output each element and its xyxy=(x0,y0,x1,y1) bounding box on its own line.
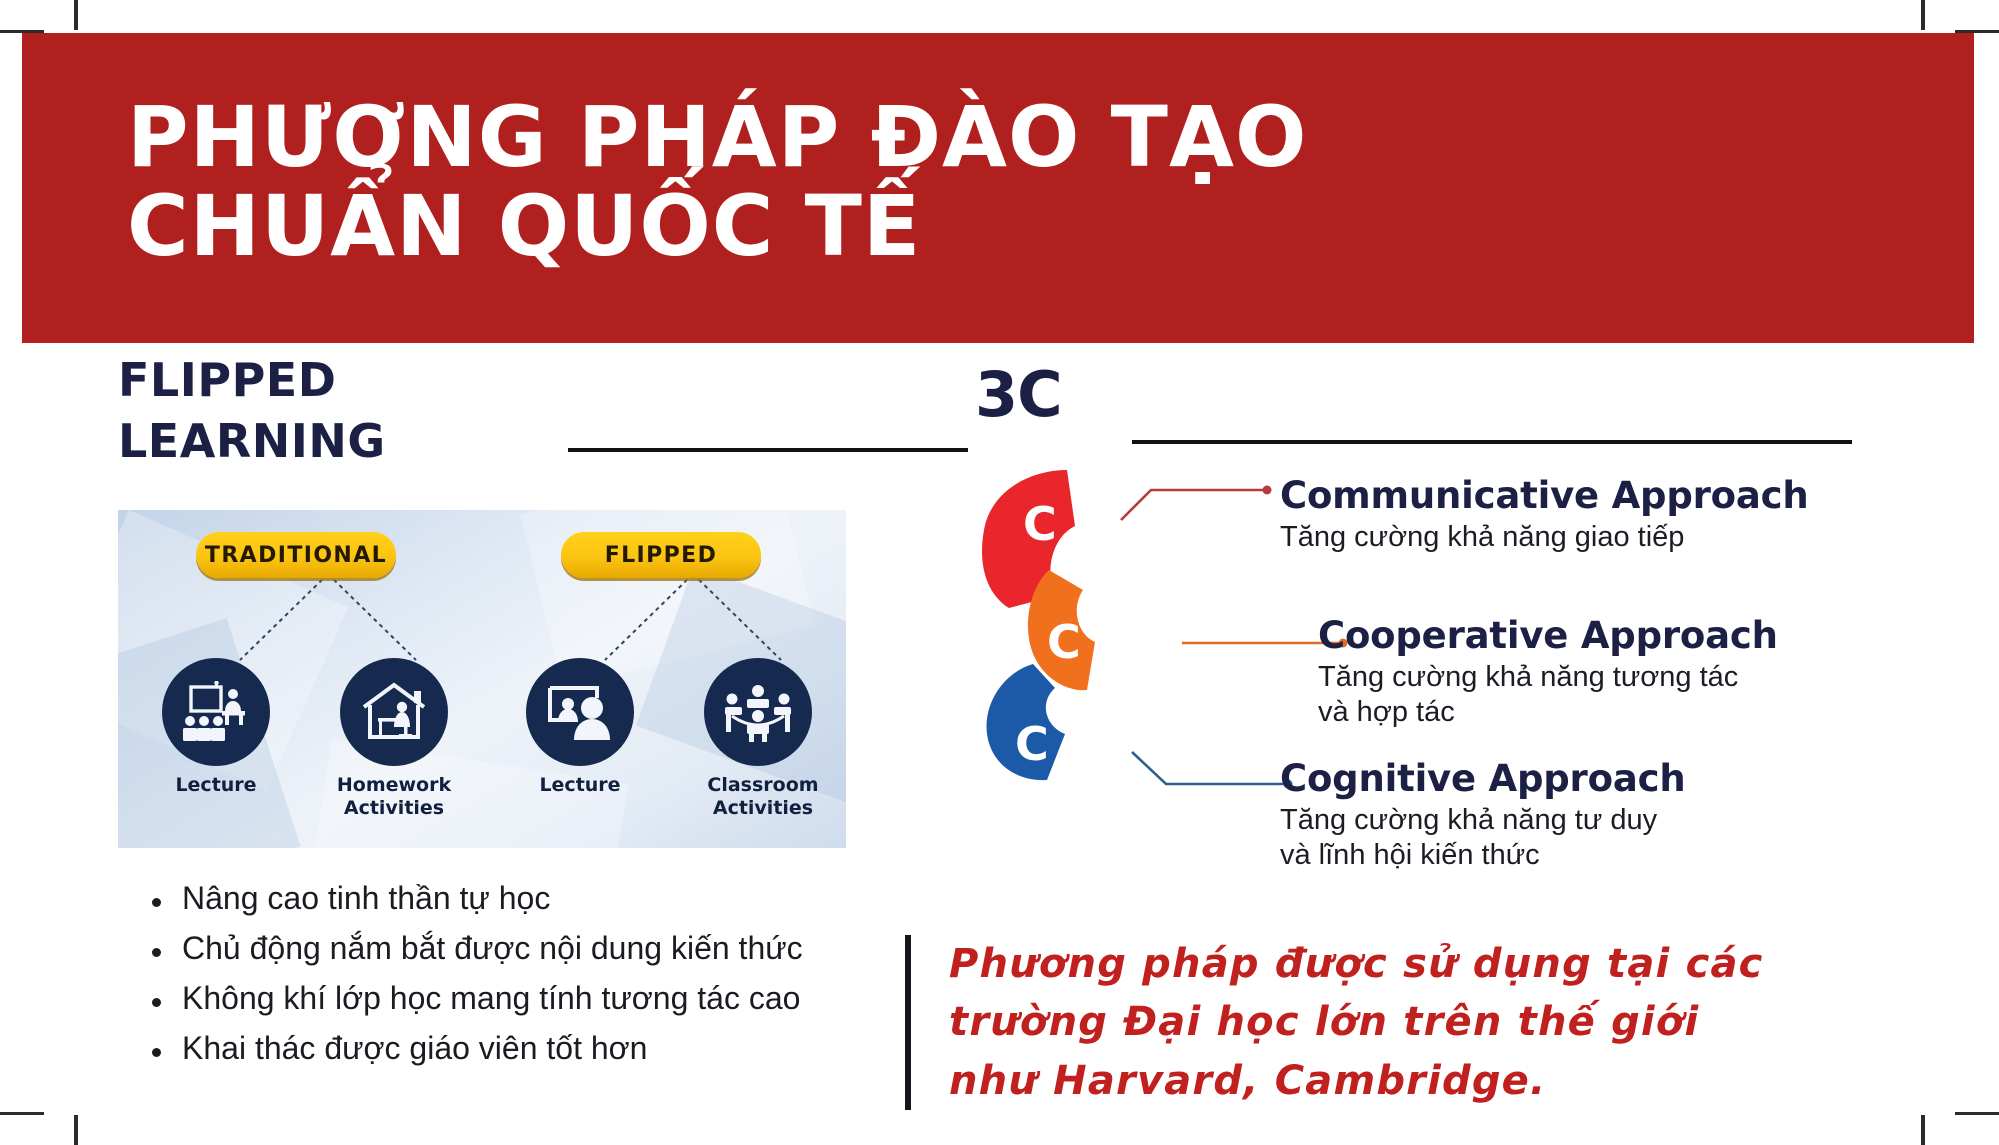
badge-traditional: TRADITIONAL xyxy=(196,532,396,578)
flipped-learning-heading: FLIPPED LEARNING xyxy=(118,350,878,471)
flipped-learning-heading-line1: FLIPPED xyxy=(118,353,336,407)
approach-cognitive: Cognitive Approach Tăng cường khả năng t… xyxy=(1280,758,1920,873)
node-caption-homework: Homework Activities xyxy=(324,774,464,820)
approach-communicative: Communicative Approach Tăng cường khả nă… xyxy=(1280,475,1920,555)
node-caption-lecture-flipped: Lecture xyxy=(510,774,650,797)
node-caption-classroom-activities: Classroom Activities xyxy=(688,774,838,820)
list-item: Chủ động nắm bắt được nội dung kiến thức xyxy=(140,924,860,974)
flipped-learning-diagram: TRADITIONAL FLIPPED xyxy=(118,510,846,848)
c-letter-orange: C xyxy=(1047,615,1081,669)
node-caption-lecture-traditional: Lecture xyxy=(146,774,286,797)
badge-flipped: FLIPPED xyxy=(561,532,761,578)
crop-mark-top-left-v xyxy=(74,0,78,30)
flipped-learning-benefits-list: Nâng cao tinh thần tự học Chủ động nắm b… xyxy=(140,874,860,1074)
badge-flipped-label: FLIPPED xyxy=(605,543,718,568)
highlight-quote: Phương pháp được sử dụng tại các trường … xyxy=(905,935,1959,1110)
title-banner: PHƯƠNG PHÁP ĐÀO TẠO CHUẨN QUỐC TẾ xyxy=(22,33,1974,343)
three-c-heading: 3C xyxy=(975,358,1062,431)
approach-cooperative-title: Cooperative Approach xyxy=(1318,615,1958,656)
approach-cooperative-subtitle: Tăng cường khả năng tương tác và hợp tác xyxy=(1318,660,1958,730)
crop-mark-top-right-v xyxy=(1921,0,1925,30)
home-study-icon xyxy=(360,681,428,743)
node-circle-classroom-activities xyxy=(704,658,812,766)
node-circle-lecture-traditional xyxy=(162,658,270,766)
approach-cognitive-title: Cognitive Approach xyxy=(1280,758,1920,799)
badge-traditional-label: TRADITIONAL xyxy=(205,543,387,568)
page-body: FLIPPED LEARNING T xyxy=(0,350,1999,1145)
c-letter-blue: C xyxy=(1015,717,1049,771)
classroom-lecture-icon xyxy=(181,681,251,743)
approach-communicative-subtitle: Tăng cường khả năng giao tiếp xyxy=(1280,520,1920,555)
flipped-learning-rule xyxy=(568,448,968,452)
list-item: Khai thác được giáo viên tốt hơn xyxy=(140,1024,860,1074)
flipped-learning-section: FLIPPED LEARNING T xyxy=(118,350,878,471)
c-letter-red: C xyxy=(1023,497,1057,551)
group-discussion-icon xyxy=(722,682,794,742)
page-title: PHƯƠNG PHÁP ĐÀO TẠO CHUẨN QUỐC TẾ xyxy=(127,93,1307,271)
highlight-quote-text: Phương pháp được sử dụng tại các trường … xyxy=(949,935,1959,1110)
node-circle-homework xyxy=(340,658,448,766)
approach-cognitive-subtitle: Tăng cường khả năng tư duy và lĩnh hội k… xyxy=(1280,803,1920,873)
node-circle-lecture-flipped xyxy=(526,658,634,766)
flipped-learning-heading-line2: LEARNING xyxy=(118,414,386,468)
online-lecture-icon xyxy=(545,682,615,742)
leader-line-communicative xyxy=(1115,468,1285,528)
three-c-rule xyxy=(1132,440,1852,444)
approach-communicative-title: Communicative Approach xyxy=(1280,475,1920,516)
list-item: Không khí lớp học mang tính tương tác ca… xyxy=(140,974,860,1024)
list-item: Nâng cao tinh thần tự học xyxy=(140,874,860,924)
approach-cooperative: Cooperative Approach Tăng cường khả năng… xyxy=(1318,615,1958,730)
